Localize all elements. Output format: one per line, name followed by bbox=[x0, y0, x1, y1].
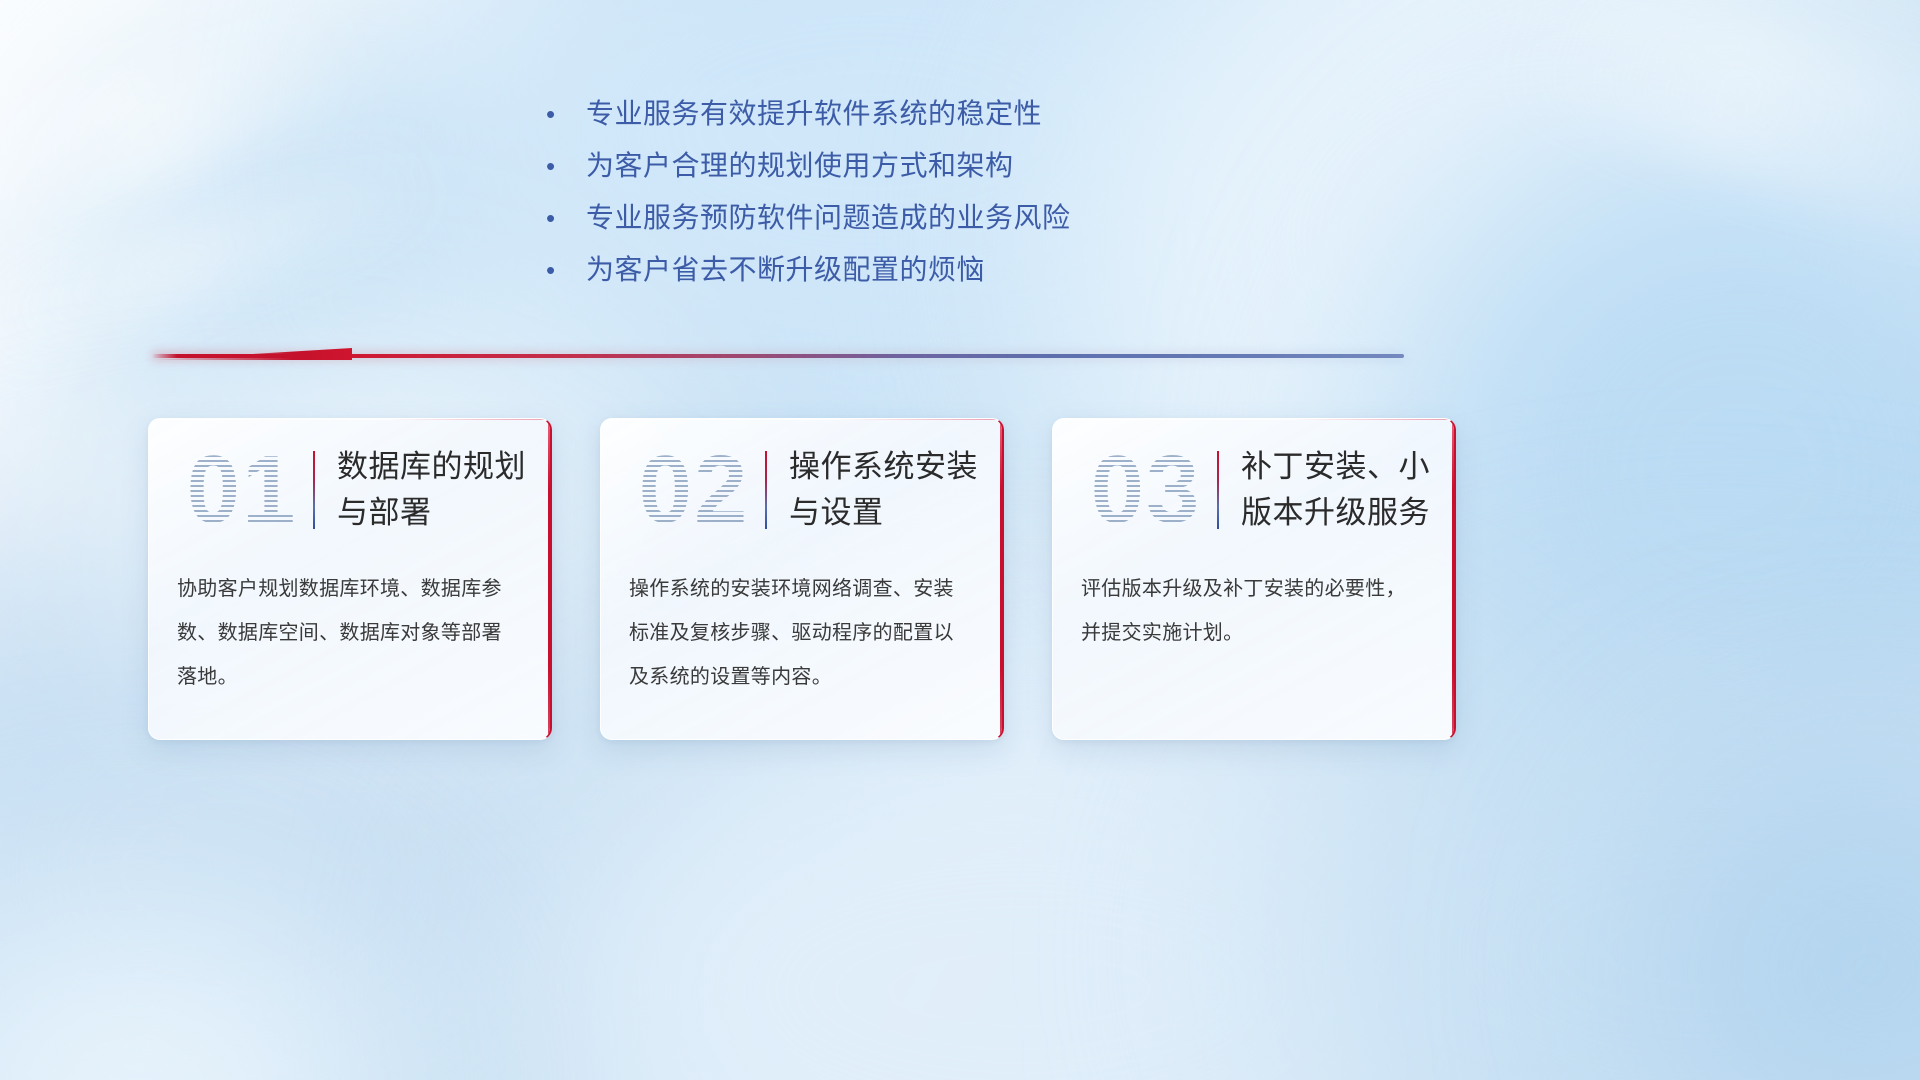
card-body: 评估版本升级及补丁安装的必要性，并提交实施计划。 bbox=[1053, 561, 1454, 655]
benefits-bullet-list: • 专业服务有效提升软件系统的稳定性 • 为客户合理的规划使用方式和架构 • 专… bbox=[540, 88, 1440, 296]
service-card-03[interactable]: 03 补丁安装、小 版本升级服务 评估版本升级及补丁安装的必要性，并提交实施计划… bbox=[1052, 418, 1456, 740]
background-sheen-1 bbox=[0, 0, 386, 260]
list-item: • 为客户合理的规划使用方式和架构 bbox=[540, 140, 1440, 192]
card-description-03: 评估版本升级及补丁安装的必要性，并提交实施计划。 bbox=[1081, 567, 1426, 655]
background-glow-g bbox=[520, 680, 1520, 1080]
background-glow-k bbox=[0, 900, 400, 1080]
card-header: 01 数据库的规划 与部署 bbox=[149, 419, 550, 561]
card-body: 协助客户规划数据库环境、数据库参数、数据库空间、数据库对象等部署落地。 bbox=[149, 561, 550, 699]
background-glow-e bbox=[1380, 120, 1920, 820]
background-glow-j bbox=[1640, 760, 1920, 1080]
bullet-text-3: 专业服务预防软件问题造成的业务风险 bbox=[586, 192, 1071, 244]
service-card-02[interactable]: 02 操作系统安装 与设置 操作系统的安装环境网络调查、安装标准及复核步骤、驱动… bbox=[600, 418, 1004, 740]
card-number-03: 03 bbox=[1081, 438, 1211, 542]
card-description-02: 操作系统的安装环境网络调查、安装标准及复核步骤、驱动程序的配置以及系统的设置等内… bbox=[629, 567, 974, 699]
list-item: • 专业服务预防软件问题造成的业务风险 bbox=[540, 192, 1440, 244]
list-item: • 为客户省去不断升级配置的烦恼 bbox=[540, 244, 1440, 296]
service-card-group: 01 数据库的规划 与部署 协助客户规划数据库环境、数据库参数、数据库空间、数据… bbox=[148, 418, 1456, 740]
card-title-01: 数据库的规划 与部署 bbox=[337, 444, 526, 536]
bullet-text-2: 为客户合理的规划使用方式和架构 bbox=[586, 140, 1014, 192]
background-sheen-2 bbox=[0, 124, 460, 386]
bullet-text-1: 专业服务有效提升软件系统的稳定性 bbox=[586, 88, 1042, 140]
card-number-01: 01 bbox=[177, 438, 307, 542]
card-header: 02 操作系统安装 与设置 bbox=[601, 419, 1002, 561]
card-divider-icon bbox=[1217, 451, 1219, 529]
card-divider-icon bbox=[765, 451, 767, 529]
service-card-01[interactable]: 01 数据库的规划 与部署 协助客户规划数据库环境、数据库参数、数据库空间、数据… bbox=[148, 418, 552, 740]
list-item: • 专业服务有效提升软件系统的稳定性 bbox=[540, 88, 1440, 140]
section-divider bbox=[152, 348, 1404, 364]
bullet-dot-icon: • bbox=[540, 192, 586, 244]
background-sheen-3 bbox=[1490, 0, 1920, 257]
bullet-text-4: 为客户省去不断升级配置的烦恼 bbox=[586, 244, 985, 296]
bullet-dot-icon: • bbox=[540, 244, 586, 296]
card-header: 03 补丁安装、小 版本升级服务 bbox=[1053, 419, 1454, 561]
card-divider-icon bbox=[313, 451, 315, 529]
card-body: 操作系统的安装环境网络调查、安装标准及复核步骤、驱动程序的配置以及系统的设置等内… bbox=[601, 561, 1002, 699]
slide-canvas: • 专业服务有效提升软件系统的稳定性 • 为客户合理的规划使用方式和架构 • 专… bbox=[0, 0, 1920, 1080]
card-title-03: 补丁安装、小 版本升级服务 bbox=[1241, 444, 1430, 536]
bullet-dot-icon: • bbox=[540, 88, 586, 140]
bullet-dot-icon: • bbox=[540, 140, 586, 192]
card-number-02: 02 bbox=[629, 438, 759, 542]
card-description-01: 协助客户规划数据库环境、数据库参数、数据库空间、数据库对象等部署落地。 bbox=[177, 567, 522, 699]
card-title-02: 操作系统安装 与设置 bbox=[789, 444, 978, 536]
